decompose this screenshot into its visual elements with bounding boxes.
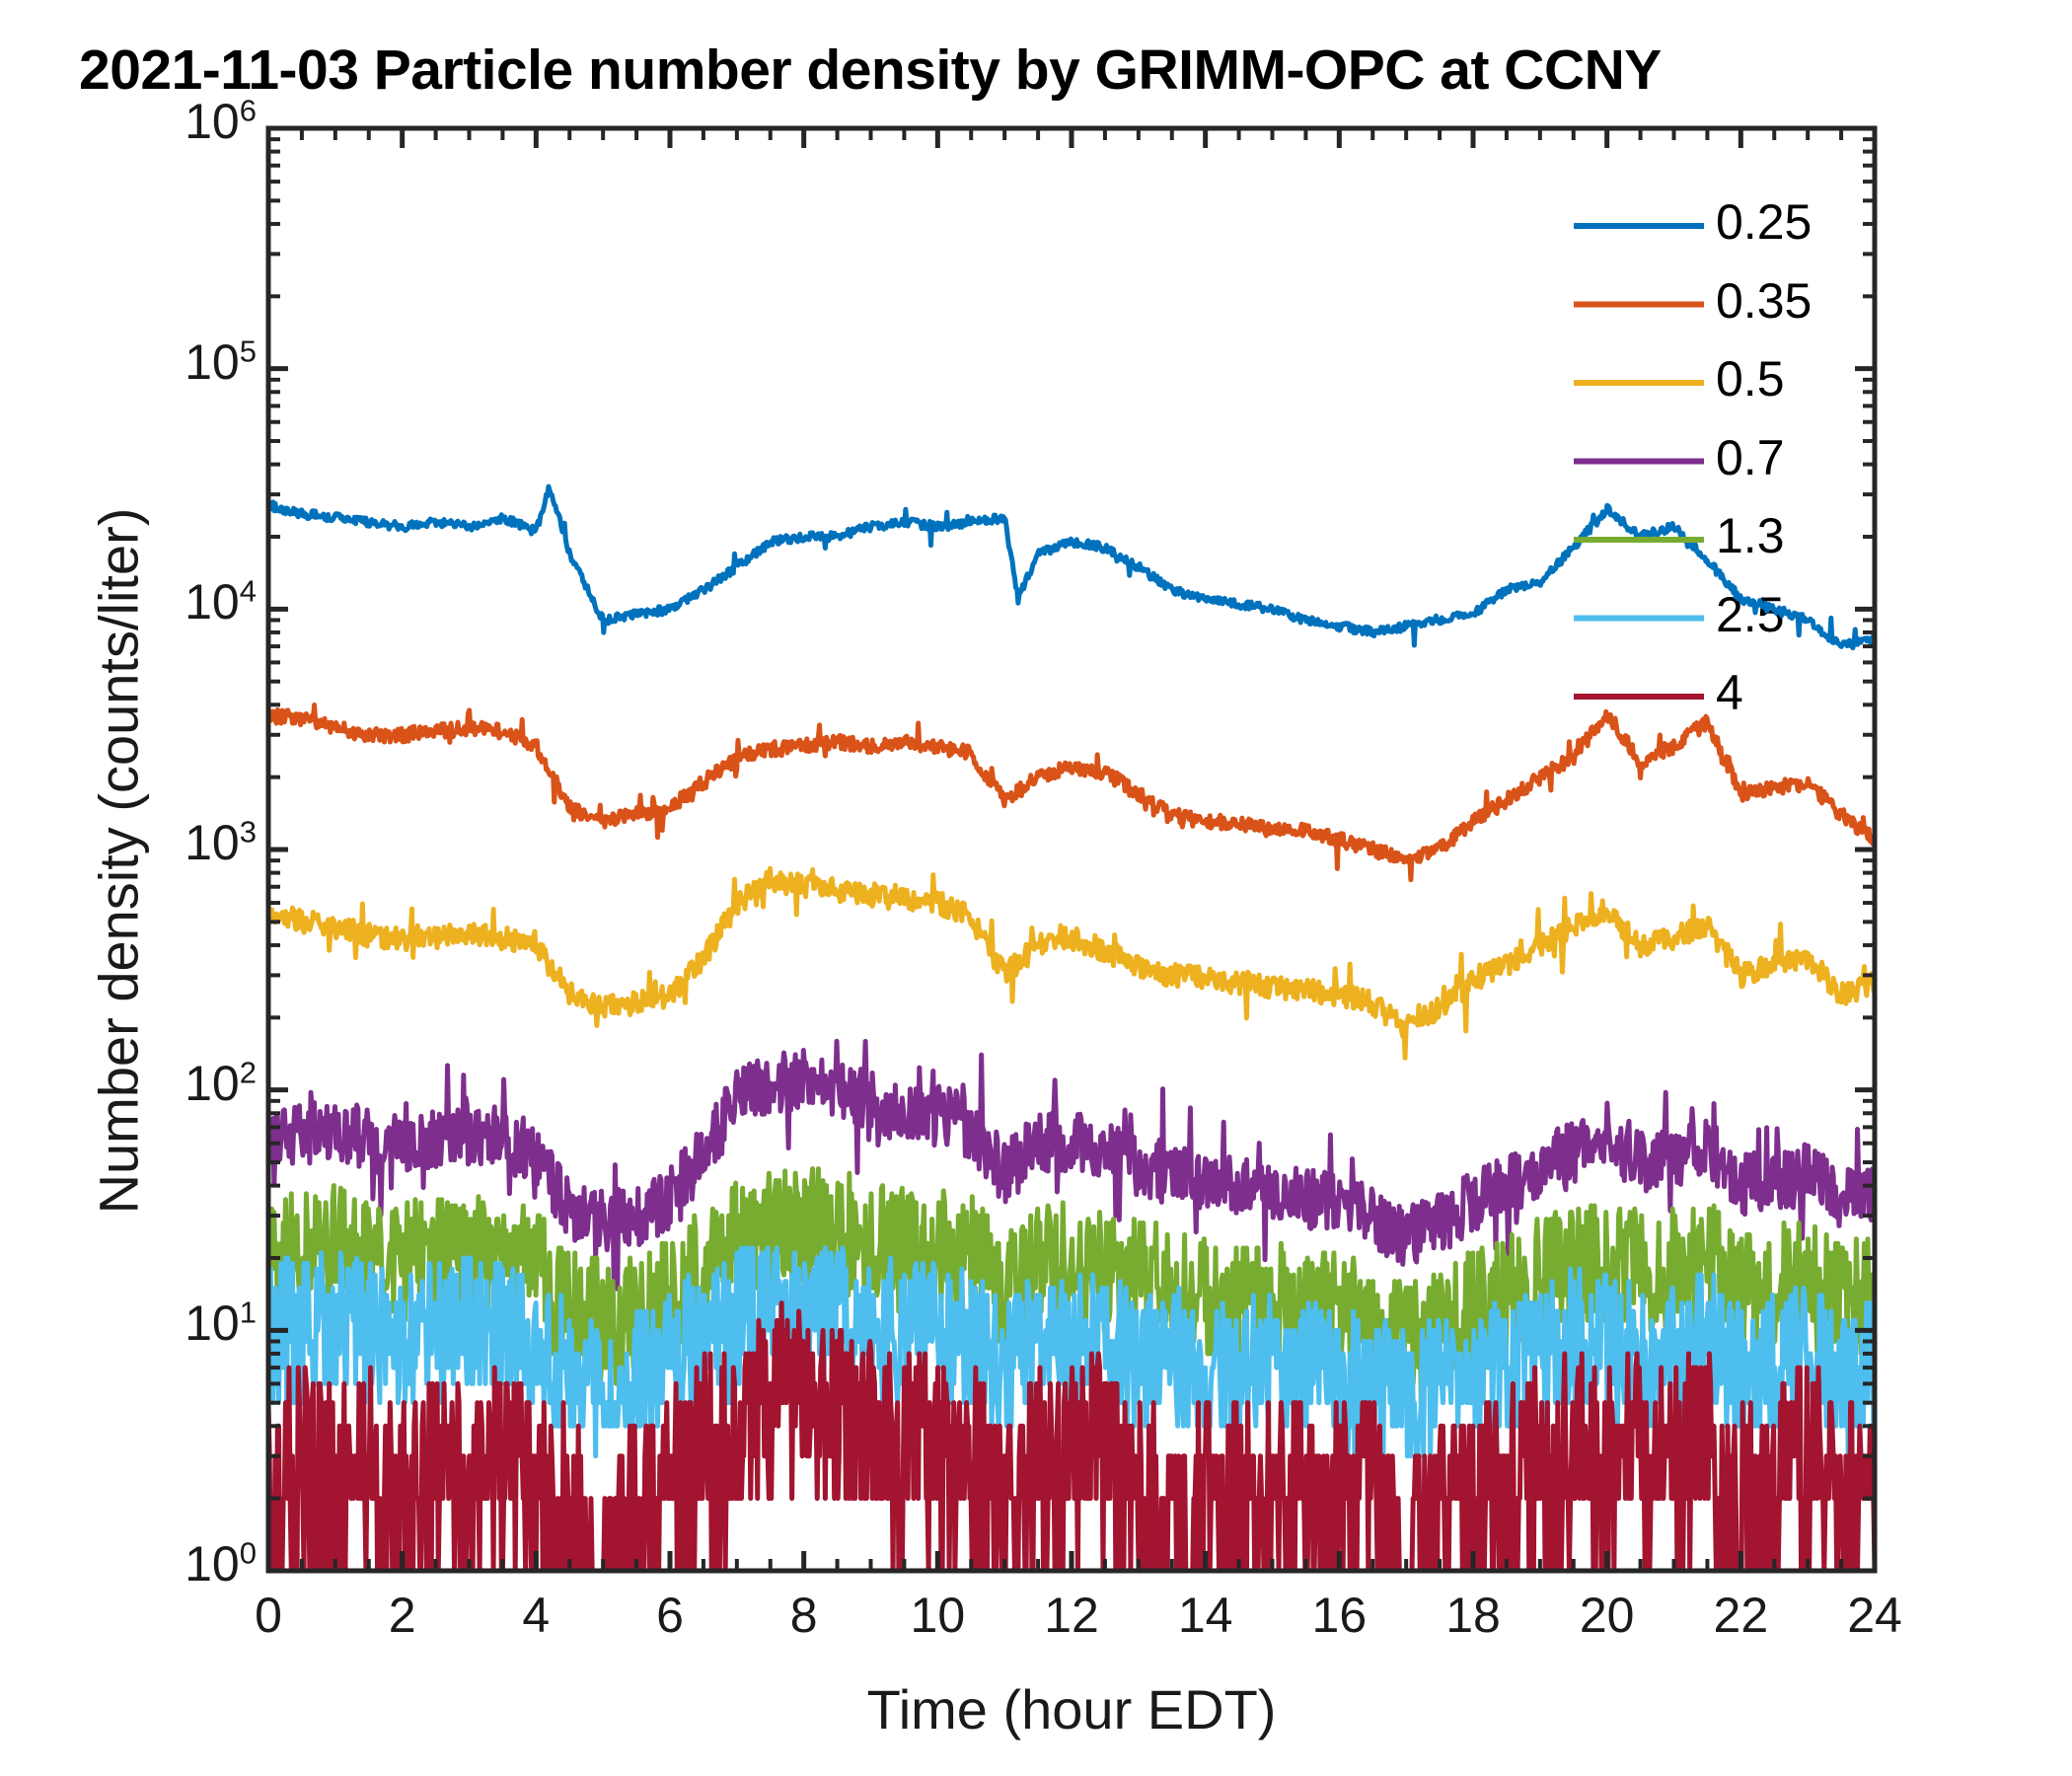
series-group <box>268 486 1875 1571</box>
legend-group <box>1574 226 1704 697</box>
plot-area <box>0 0 2072 1776</box>
series-line-0-5 <box>268 868 1875 1058</box>
figure-canvas: 2021-11-03 Particle number density by GR… <box>0 0 2072 1776</box>
series-line-0-25 <box>268 486 1875 648</box>
series-line-0-35 <box>268 705 1875 880</box>
